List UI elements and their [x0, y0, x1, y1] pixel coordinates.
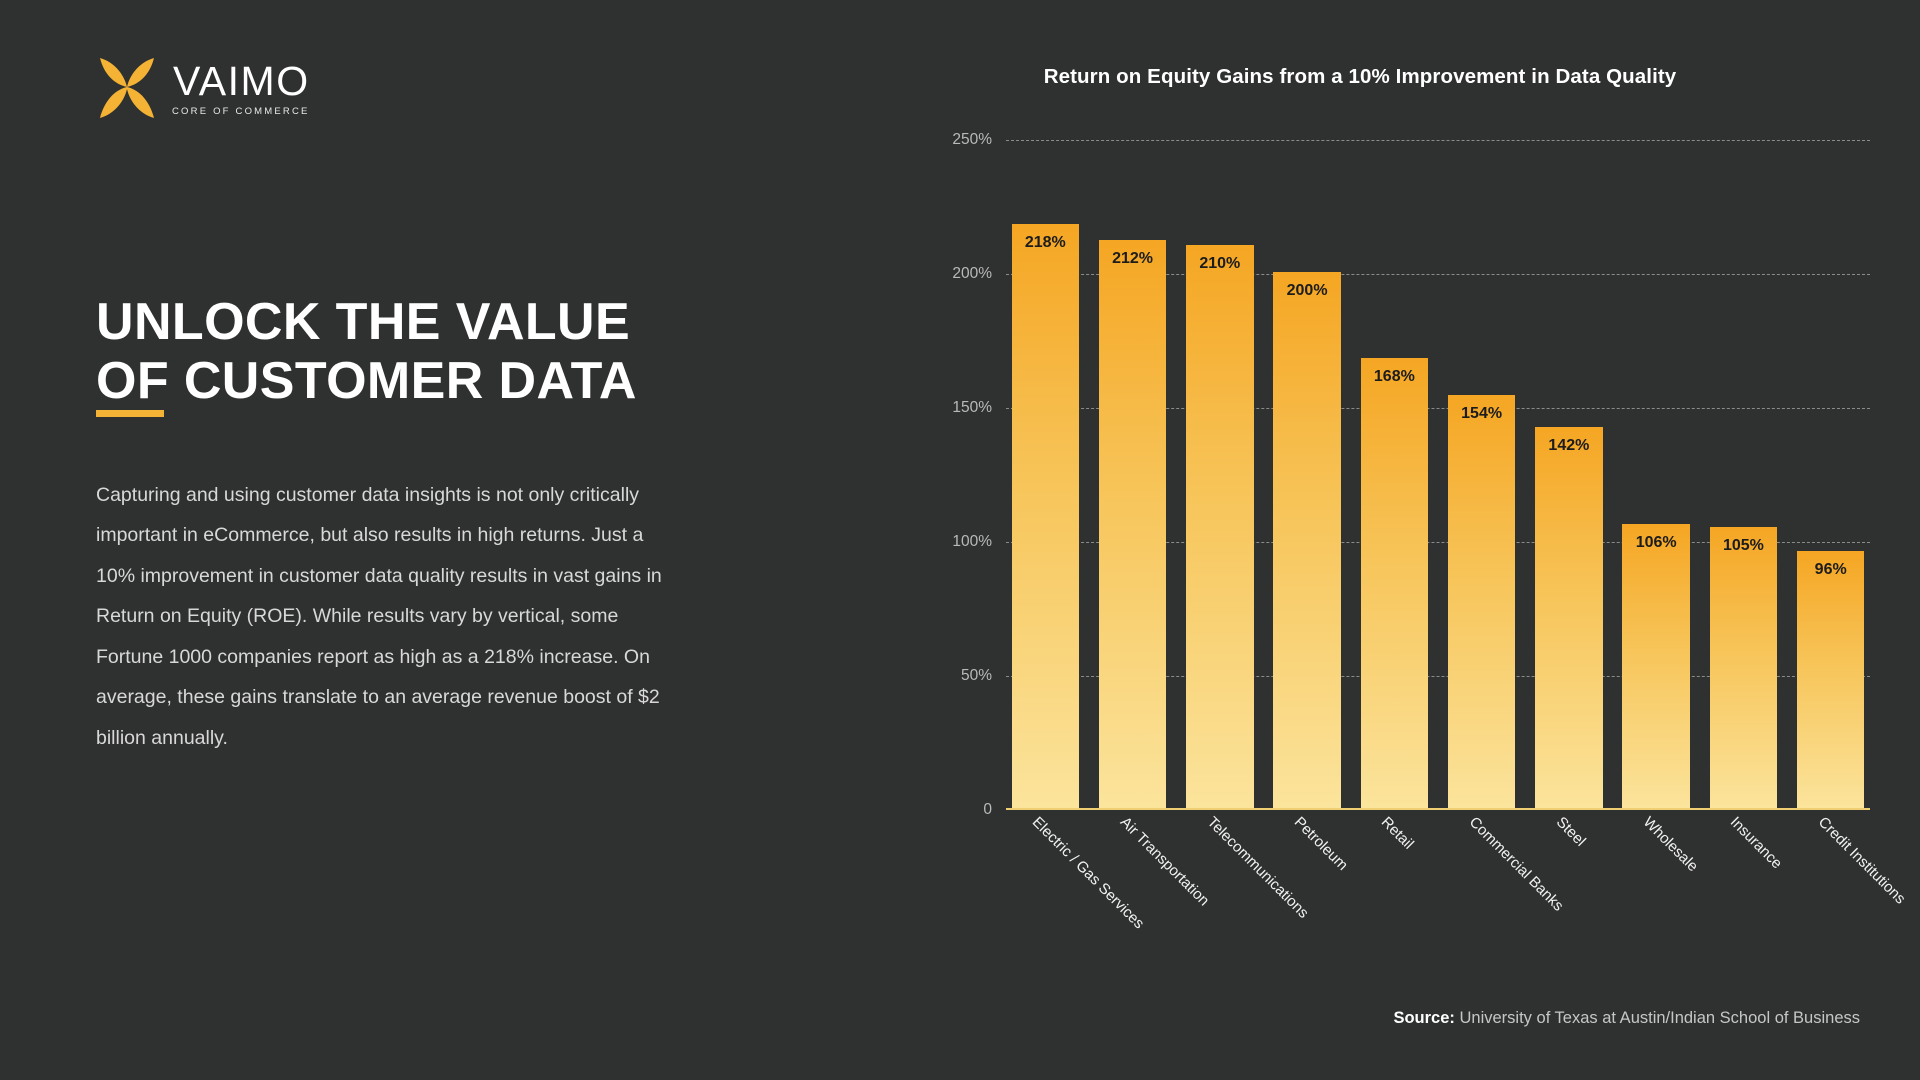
source-text: University of Texas at Austin/Indian Sch… [1460, 1009, 1861, 1027]
x-axis-category-label: Petroleum [1291, 814, 1351, 874]
y-axis-tick-label: 250% [910, 131, 992, 149]
bar[interactable]: 105% [1710, 527, 1778, 808]
vaimo-logo: VAIMO CORE OF COMMERCE [96, 56, 310, 122]
x-label-slot: Air Transportation [1093, 815, 1172, 825]
bar-value-label: 200% [1273, 282, 1341, 300]
bar-value-label: 106% [1622, 534, 1690, 552]
x-axis-labels-inner: Electric / Gas ServicesAir Transportatio… [1006, 815, 1870, 825]
bar-slot: 142% [1530, 140, 1609, 808]
bar-value-label: 154% [1448, 405, 1516, 423]
chart-title: Return on Equity Gains from a 10% Improv… [860, 65, 1860, 89]
x-axis-category-label: Air Transportation [1116, 814, 1212, 910]
bar[interactable]: 218% [1012, 224, 1080, 808]
y-axis-tick-label: 100% [910, 533, 992, 551]
bar-value-label: 168% [1361, 368, 1429, 386]
x-label-slot: Telecommunications [1181, 815, 1260, 825]
vaimo-x-icon [96, 56, 158, 122]
headline-line-2: OF CUSTOMER DATA [96, 352, 716, 411]
x-label-slot: Credit Institutions [1791, 815, 1870, 825]
bar-chart-plot: 250%200%150%100%50%0 218%212%210%200%168… [910, 140, 1870, 810]
bar[interactable]: 210% [1186, 245, 1254, 808]
bar-slot: 212% [1093, 140, 1172, 808]
x-axis-category-label: Credit Institutions [1814, 814, 1908, 908]
bar-value-label: 212% [1099, 250, 1167, 268]
bar[interactable]: 96% [1797, 551, 1865, 808]
bar[interactable]: 142% [1535, 427, 1603, 808]
bar-slot: 210% [1181, 140, 1260, 808]
x-label-slot: Retail [1355, 815, 1434, 825]
source-note: Source: University of Texas at Austin/In… [1393, 1009, 1860, 1028]
x-label-slot: Electric / Gas Services [1006, 815, 1085, 825]
source-label: Source: [1393, 1009, 1454, 1027]
logo-tagline: CORE OF COMMERCE [172, 107, 310, 117]
bar-slot: 106% [1617, 140, 1696, 808]
headline-line-1: UNLOCK THE VALUE [96, 293, 716, 352]
bar[interactable]: 212% [1099, 240, 1167, 808]
x-label-slot: Steel [1530, 815, 1609, 825]
bar[interactable]: 154% [1448, 395, 1516, 808]
chart-panel: Return on Equity Gains from a 10% Improv… [860, 0, 1920, 1080]
bar-value-label: 210% [1186, 255, 1254, 273]
x-axis-line [1006, 808, 1870, 810]
accent-divider [96, 410, 164, 417]
x-axis-labels: Electric / Gas ServicesAir Transportatio… [910, 815, 1870, 1015]
bar-slot: 96% [1791, 140, 1870, 808]
bar-value-label: 105% [1710, 537, 1778, 555]
logo-text: VAIMO CORE OF COMMERCE [172, 61, 310, 117]
page-title: UNLOCK THE VALUE OF CUSTOMER DATA [96, 293, 716, 411]
x-axis-category-label: Commercial Banks [1465, 814, 1566, 915]
left-content-panel: VAIMO CORE OF COMMERCE UNLOCK THE VALUE … [0, 0, 860, 1080]
bar-series: 218%212%210%200%168%154%142%106%105%96% [1006, 140, 1870, 808]
bar[interactable]: 106% [1622, 524, 1690, 808]
bar-slot: 218% [1006, 140, 1085, 808]
bar-slot: 154% [1442, 140, 1521, 808]
bar-value-label: 142% [1535, 437, 1603, 455]
bar[interactable]: 168% [1361, 358, 1429, 808]
bar-slot: 200% [1268, 140, 1347, 808]
x-axis-category-label: Retail [1378, 814, 1417, 853]
x-axis-category-label: Wholesale [1640, 814, 1702, 876]
bar-slot: 105% [1704, 140, 1783, 808]
bar-slot: 168% [1355, 140, 1434, 808]
body-paragraph: Capturing and using customer data insigh… [96, 475, 676, 759]
y-axis-tick-label: 150% [910, 399, 992, 417]
x-axis-category-label: Steel [1553, 814, 1589, 850]
bar[interactable]: 200% [1273, 272, 1341, 808]
x-label-slot: Insurance [1704, 815, 1783, 825]
x-label-slot: Petroleum [1268, 815, 1347, 825]
y-axis-tick-label: 200% [910, 265, 992, 283]
x-label-slot: Wholesale [1617, 815, 1696, 825]
y-axis-tick-label: 50% [910, 667, 992, 685]
bar-value-label: 218% [1012, 234, 1080, 252]
x-axis-category-label: Insurance [1727, 814, 1786, 873]
x-label-slot: Commercial Banks [1442, 815, 1521, 825]
bar-value-label: 96% [1797, 561, 1865, 579]
logo-wordmark: VAIMO [173, 61, 310, 102]
